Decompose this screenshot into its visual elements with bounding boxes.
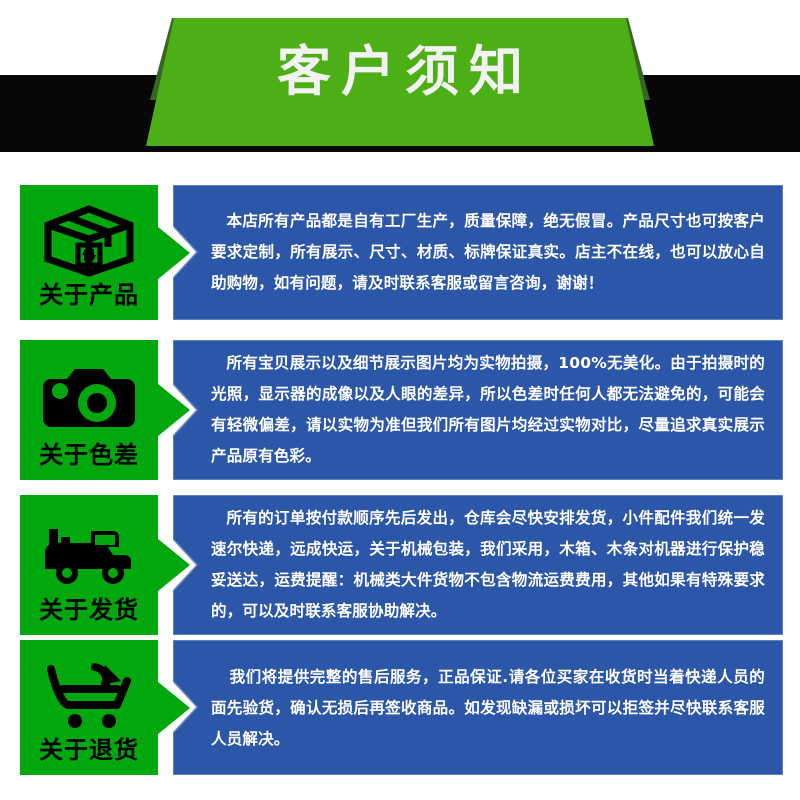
info-row: 关于发货 所有的订单按付款顺序先后发出，仓库会尽快安排发货，小件配件我们统一发速… — [0, 495, 800, 635]
info-row: 关于退货 我们将提供完整的售后服务，正品保证.请各位买家在收货时当着快递人员的面… — [0, 640, 800, 775]
section-panel: 本店所有产品都是自有工厂生产，质量保障，绝无假冒。产品尺寸也可按客户要求定制，所… — [173, 185, 783, 320]
section-tile[interactable]: 关于发货 — [20, 495, 158, 635]
chevron-right-icon — [152, 222, 190, 284]
section-text-wrap: 本店所有产品都是自有工厂生产，质量保障，绝无假冒。产品尺寸也可按客户要求定制，所… — [211, 185, 765, 320]
section-text: 所有的订单按付款顺序先后发出，仓库会尽快安排发货，小件配件我们统一发速尔快递，远… — [211, 503, 765, 627]
section-tile[interactable]: 关于退货 — [20, 640, 158, 775]
section-tile[interactable]: 关于产品 — [20, 185, 158, 320]
section-text: 所有宝贝展示以及细节展示图片均为实物拍摄，100%无美化。由于拍摄时的光照，显示… — [211, 348, 765, 472]
section-label: 关于发货 — [39, 595, 139, 635]
section-text: 我们将提供完整的售后服务，正品保证.请各位买家在收货时当着快递人员的面先验货，确… — [211, 662, 765, 755]
camera-icon — [20, 354, 158, 440]
section-panel: 我们将提供完整的售后服务，正品保证.请各位买家在收货时当着快递人员的面先验货，确… — [173, 640, 783, 775]
section-panel: 所有的订单按付款顺序先后发出，仓库会尽快安排发货，小件配件我们统一发速尔快递，远… — [173, 495, 783, 635]
chevron-right-icon — [152, 677, 190, 739]
section-tile[interactable]: 关于色差 — [20, 340, 158, 480]
section-label: 关于退货 — [39, 735, 139, 775]
chevron-right-icon — [152, 379, 190, 441]
info-row: 关于产品 本店所有产品都是自有工厂生产，质量保障，绝无假冒。产品尺寸也可按客户要… — [0, 185, 800, 320]
section-label: 关于产品 — [39, 280, 139, 320]
chevron-right-icon — [152, 534, 190, 596]
forklift-truck-icon — [20, 509, 158, 595]
info-row: 关于色差 所有宝贝展示以及细节展示图片均为实物拍摄，100%无美化。由于拍摄时的… — [0, 340, 800, 480]
return-cart-icon — [20, 654, 158, 735]
section-text-wrap: 所有宝贝展示以及细节展示图片均为实物拍摄，100%无美化。由于拍摄时的光照，显示… — [211, 340, 765, 480]
section-text-wrap: 我们将提供完整的售后服务，正品保证.请各位买家在收货时当着快递人员的面先验货，确… — [211, 640, 765, 775]
package-box-icon — [20, 199, 158, 280]
section-label: 关于色差 — [39, 440, 139, 480]
page-title: 客户须知 — [0, 36, 800, 108]
section-text-wrap: 所有的订单按付款顺序先后发出，仓库会尽快安排发货，小件配件我们统一发速尔快递，远… — [211, 495, 765, 635]
header-banner: 客户须知 — [0, 0, 800, 160]
section-text: 本店所有产品都是自有工厂生产，质量保障，绝无假冒。产品尺寸也可按客户要求定制，所… — [211, 206, 765, 299]
section-panel: 所有宝贝展示以及细节展示图片均为实物拍摄，100%无美化。由于拍摄时的光照，显示… — [173, 340, 783, 480]
